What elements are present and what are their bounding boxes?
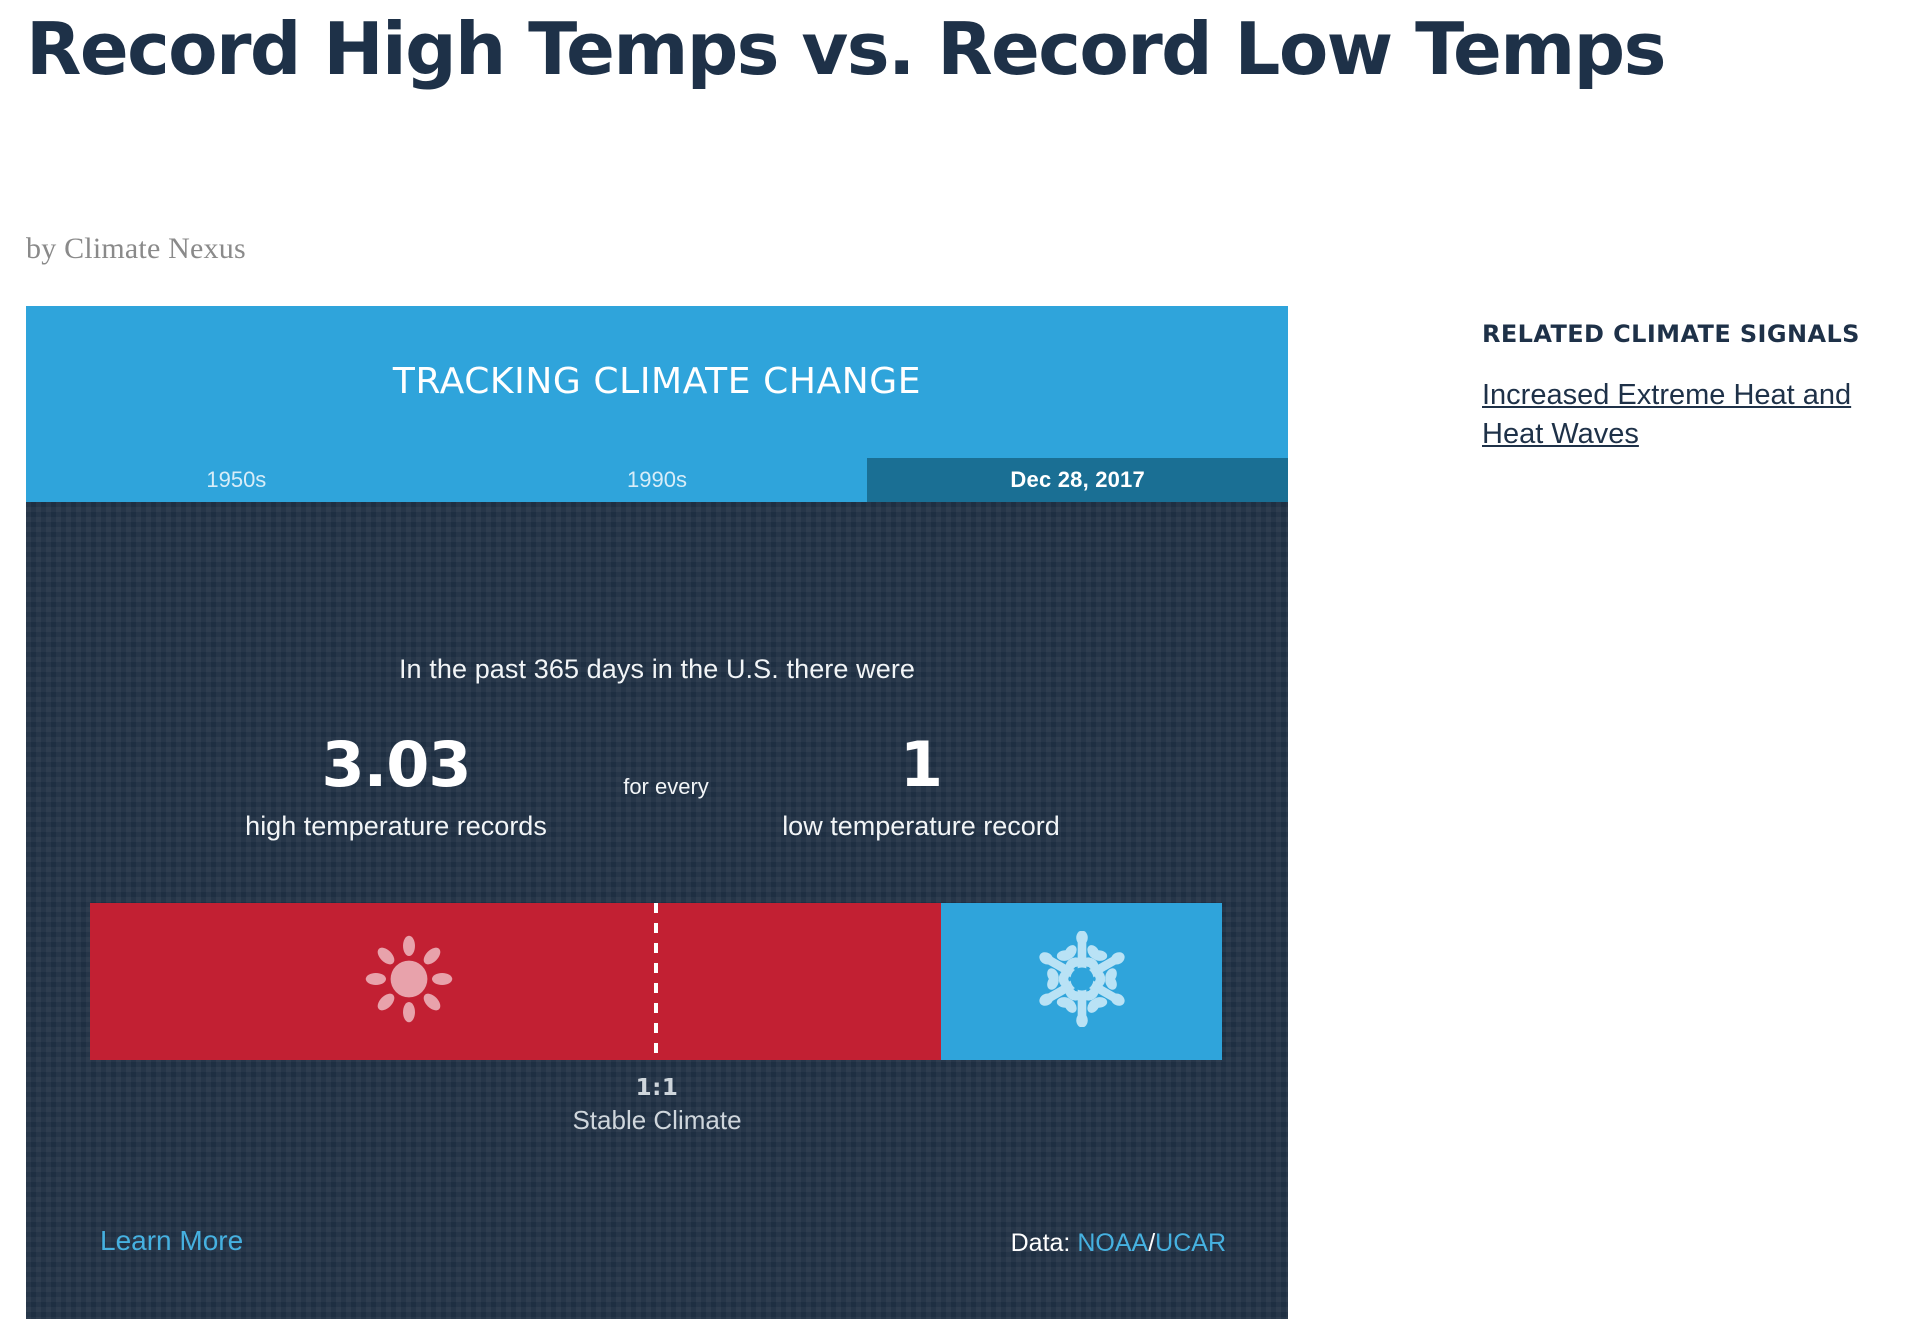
data-credit: Data: NOAA/UCAR xyxy=(1011,1229,1226,1258)
data-source-ucar-link[interactable]: UCAR xyxy=(1155,1229,1226,1257)
widget-header-title: TRACKING CLIMATE CHANGE xyxy=(26,361,1288,402)
tab-current-date[interactable]: Dec 28, 2017 xyxy=(867,458,1288,502)
ratio-bar-high-segment xyxy=(90,903,941,1060)
stats-row: 3.03 high temperature records for every … xyxy=(26,732,1288,872)
learn-more-link[interactable]: Learn More xyxy=(100,1225,243,1257)
intro-text: In the past 365 days in the U.S. there w… xyxy=(26,654,1288,685)
ratio-caption: 1:1 Stable Climate xyxy=(26,1075,1288,1136)
stable-climate-midline xyxy=(654,903,658,1060)
article-byline: by Climate Nexus xyxy=(26,232,246,266)
related-signal-link-1[interactable]: Increased Extreme Heat and Heat Waves xyxy=(1482,376,1912,454)
ratio-label: Stable Climate xyxy=(26,1105,1288,1136)
climate-widget: TRACKING CLIMATE CHANGE 1950s 1990s Dec … xyxy=(26,306,1288,1319)
period-tabs: 1950s 1990s Dec 28, 2017 xyxy=(26,458,1288,502)
data-credit-prefix: Data: xyxy=(1011,1229,1071,1257)
data-source-noaa-link[interactable]: NOAA xyxy=(1077,1229,1148,1257)
widget-header: TRACKING CLIMATE CHANGE xyxy=(26,306,1288,458)
stat-low-records: 1 low temperature record xyxy=(686,732,1156,842)
ratio-bar-track xyxy=(90,903,1222,1060)
sun-icon xyxy=(363,933,455,1030)
ratio-value: 1:1 xyxy=(26,1075,1288,1101)
snowflake-icon xyxy=(1034,931,1130,1032)
related-signals-heading: RELATED CLIMATE SIGNALS xyxy=(1482,320,1912,348)
page-title: Record High Temps vs. Record Low Temps xyxy=(26,12,1666,87)
widget-body: In the past 365 days in the U.S. there w… xyxy=(26,502,1288,1319)
ratio-bar-low-segment xyxy=(941,903,1222,1060)
tab-1990s[interactable]: 1990s xyxy=(447,458,868,502)
ratio-bar xyxy=(90,903,1222,1060)
tab-1950s[interactable]: 1950s xyxy=(26,458,447,502)
related-signals-sidebar: RELATED CLIMATE SIGNALS Increased Extrem… xyxy=(1482,320,1912,454)
high-record-label: high temperature records xyxy=(146,811,646,842)
widget-footer: Learn More Data: NOAA/UCAR xyxy=(26,1225,1288,1261)
low-record-label: low temperature record xyxy=(686,811,1156,842)
page-root: Record High Temps vs. Record Low Temps b… xyxy=(0,0,1913,1319)
low-record-value: 1 xyxy=(686,732,1156,797)
